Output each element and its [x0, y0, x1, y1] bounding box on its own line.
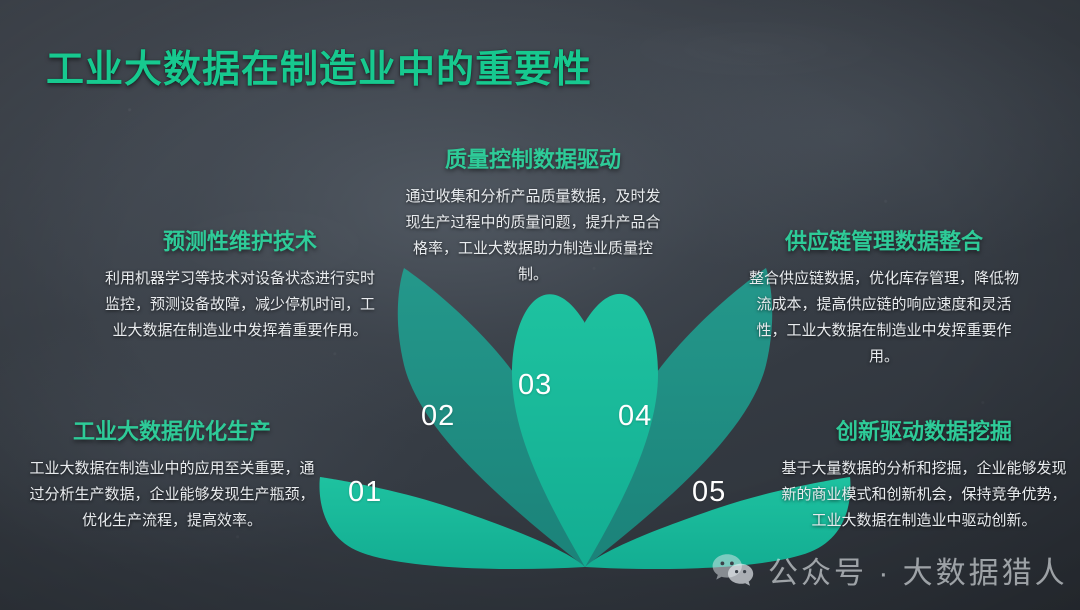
content-block-predictive-body: 利用机器学习等技术对设备状态进行实时监控，预测设备故障，减少停机时间，工业大数据… [104, 266, 376, 344]
slide-canvas: 工业大数据在制造业中的重要性 01 02 03 04 05 质量控制数据 [0, 0, 1080, 610]
lotus-petal-number-04: 04 [618, 400, 652, 433]
content-block-innovation: 创新驱动数据挖掘 基于大量数据的分析和挖掘，企业能够发现新的商业模式和创新机会，… [776, 414, 1072, 534]
content-block-supply-chain: 供应链管理数据整合 整合供应链数据，优化库存管理，降低物流成本，提高供应链的响应… [748, 224, 1020, 370]
content-block-quality-heading: 质量控制数据驱动 [404, 142, 662, 174]
watermark: 公众号 · 大数据猎人 [712, 548, 1068, 592]
content-block-predictive: 预测性维护技术 利用机器学习等技术对设备状态进行实时监控，预测设备故障，减少停机… [104, 224, 376, 344]
wechat-icon [712, 553, 756, 587]
watermark-text: 公众号 · 大数据猎人 [768, 548, 1068, 592]
content-block-optimize-production: 工业大数据优化生产 工业大数据在制造业中的应用至关重要，通过分析生产数据，企业能… [24, 414, 320, 534]
content-block-quality-body: 通过收集和分析产品质量数据，及时发现生产过程中的质量问题，提升产品合格率，工业大… [404, 184, 662, 288]
content-block-optimize-production-body: 工业大数据在制造业中的应用至关重要，通过分析生产数据，企业能够发现生产瓶颈，优化… [24, 456, 320, 534]
content-block-predictive-heading: 预测性维护技术 [104, 224, 376, 256]
page-title: 工业大数据在制造业中的重要性 [46, 38, 592, 93]
content-block-optimize-production-heading: 工业大数据优化生产 [24, 414, 320, 446]
lotus-petal-number-01: 01 [348, 476, 382, 509]
content-block-supply-chain-body: 整合供应链数据，优化库存管理，降低物流成本，提高供应链的响应速度和灵活性，工业大… [748, 266, 1020, 370]
content-block-innovation-heading: 创新驱动数据挖掘 [776, 414, 1072, 446]
lotus-petal-number-03: 03 [518, 369, 552, 402]
content-block-supply-chain-heading: 供应链管理数据整合 [748, 224, 1020, 256]
lotus-petal-number-02: 02 [421, 400, 455, 433]
content-block-quality: 质量控制数据驱动 通过收集和分析产品质量数据，及时发现生产过程中的质量问题，提升… [404, 142, 662, 288]
lotus-petal-number-05: 05 [692, 476, 726, 509]
content-block-innovation-body: 基于大量数据的分析和挖掘，企业能够发现新的商业模式和创新机会，保持竞争优势，工业… [776, 456, 1072, 534]
